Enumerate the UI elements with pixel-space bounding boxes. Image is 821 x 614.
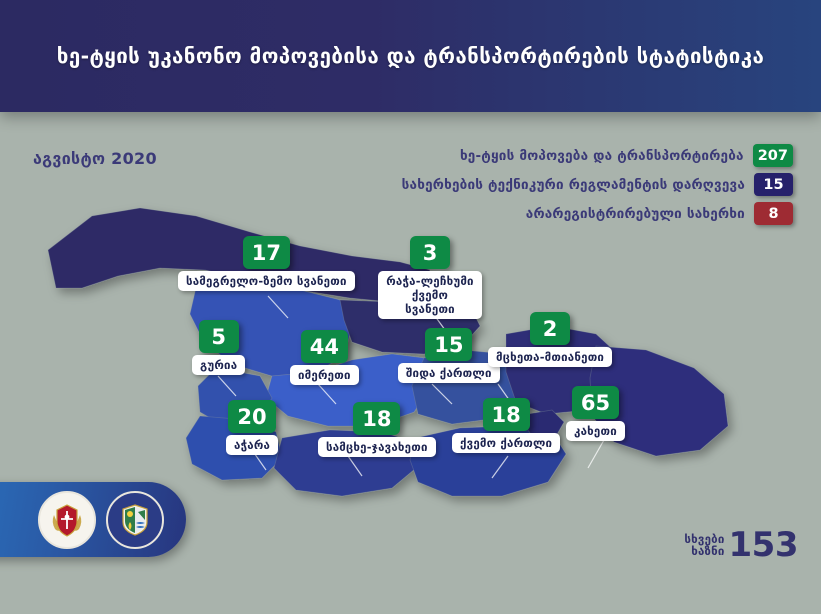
region-marker-mtskheta[interactable]: 2 მცხეთა-მთიანეთი bbox=[488, 312, 612, 367]
legend-label: არარეგისტრირებული სახერხი bbox=[526, 206, 745, 222]
total-summary: სხვები ხაზნი 153 bbox=[684, 528, 798, 562]
region-value-badge: 65 bbox=[572, 386, 619, 419]
region-name-label: სამცხე-ჯავახეთი bbox=[318, 437, 436, 457]
region-marker-kakheti[interactable]: 65 კახეთი bbox=[566, 386, 625, 441]
region-name-label: ქვემო ქართლი bbox=[452, 433, 560, 453]
region-marker-adjara[interactable]: 20 აჭარა bbox=[226, 400, 278, 455]
region-value-badge: 18 bbox=[353, 402, 400, 435]
region-name-label: აჭარა bbox=[226, 435, 278, 455]
region-value-badge: 2 bbox=[530, 312, 570, 345]
region-name-label: მცხეთა-მთიანეთი bbox=[488, 347, 612, 367]
georgia-coat-of-arms-icon bbox=[50, 501, 84, 539]
agency-shield-icon bbox=[119, 502, 151, 538]
region-value-badge: 15 bbox=[425, 328, 472, 361]
region-value-badge: 3 bbox=[410, 236, 450, 269]
total-caption-line-2: ხაზნი bbox=[691, 545, 724, 558]
period-label: აგვისტო 2020 bbox=[33, 149, 157, 168]
region-name-label: კახეთი bbox=[566, 421, 625, 441]
region-name-label: შიდა ქართლი bbox=[398, 363, 500, 383]
total-value: 153 bbox=[729, 528, 798, 562]
region-marker-guria[interactable]: 5 გურია bbox=[192, 320, 245, 375]
legend-label: ხე-ტყის მოპოვება და ტრანსპორტირება bbox=[460, 148, 744, 164]
environmental-agency-seal-icon bbox=[106, 491, 164, 549]
region-marker-samegrelo[interactable]: 17 სამეგრელო-ზემო სვანეთი bbox=[178, 236, 355, 291]
region-value-badge: 5 bbox=[199, 320, 239, 353]
region-marker-shida-kartli[interactable]: 15 შიდა ქართლი bbox=[398, 328, 500, 383]
region-value-badge: 44 bbox=[301, 330, 348, 363]
legend-count-badge: 15 bbox=[754, 173, 793, 196]
legend-item-sawmill-regulation: სახერხების ტექნიკური რეგლამენტის დარღვევ… bbox=[402, 173, 793, 196]
legend-item-harvest-transport: ხე-ტყის მოპოვება და ტრანსპორტირება 207 bbox=[460, 144, 793, 167]
region-value-badge: 18 bbox=[483, 398, 530, 431]
legend-item-unregistered-sawmill: არარეგისტრირებული სახერხი 8 bbox=[526, 202, 793, 225]
region-value-badge: 20 bbox=[228, 400, 275, 433]
legend-count-badge: 207 bbox=[753, 144, 793, 167]
total-caption: სხვები ხაზნი bbox=[684, 533, 724, 558]
region-name-label: იმერეთი bbox=[290, 365, 359, 385]
header-bar: ხე-ტყის უკანონო მოპოვებისა და ტრანსპორტი… bbox=[0, 0, 821, 112]
region-value-badge: 17 bbox=[243, 236, 290, 269]
region-marker-kvemo-kartli[interactable]: 18 ქვემო ქართლი bbox=[452, 398, 560, 453]
footer-logo-panel bbox=[0, 482, 186, 557]
region-marker-samtskhe[interactable]: 18 სამცხე-ჯავახეთი bbox=[318, 402, 436, 457]
ministry-of-environment-seal-icon bbox=[38, 491, 96, 549]
legend-count-badge: 8 bbox=[754, 202, 793, 225]
region-name-label: სამეგრელო-ზემო სვანეთი bbox=[178, 271, 355, 291]
region-name-label: რაჭა-ლეჩხუმი ქვემო სვანეთი bbox=[378, 271, 482, 319]
legend-label: სახერხების ტექნიკური რეგლამენტის დარღვევ… bbox=[402, 177, 745, 193]
region-marker-racha[interactable]: 3 რაჭა-ლეჩხუმი ქვემო სვანეთი bbox=[378, 236, 482, 319]
region-marker-imereti[interactable]: 44 იმერეთი bbox=[290, 330, 359, 385]
page-title: ხე-ტყის უკანონო მოპოვებისა და ტრანსპორტი… bbox=[57, 44, 764, 68]
region-name-label: გურია bbox=[192, 355, 245, 375]
legend: ხე-ტყის მოპოვება და ტრანსპორტირება 207 ს… bbox=[402, 144, 793, 225]
